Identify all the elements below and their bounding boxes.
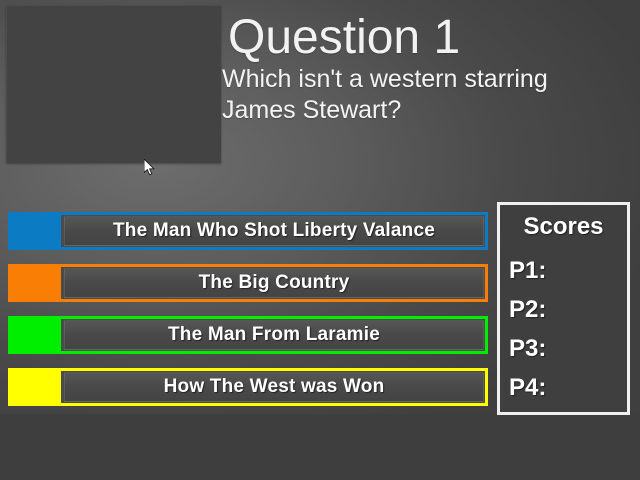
answer-option-b[interactable]: The Big Country — [8, 264, 488, 302]
score-label-p2: P2: — [509, 296, 546, 323]
score-label-p1: P1: — [509, 257, 546, 284]
answer-option-c[interactable]: The Man From Laramie — [8, 316, 488, 354]
answer-swatch-blue — [11, 215, 61, 247]
score-row-p2: P2: — [509, 296, 550, 324]
question-heading: Question 1 — [228, 12, 460, 64]
answer-list: The Man Who Shot Liberty Valance The Big… — [8, 212, 488, 420]
answer-option-d[interactable]: How The West was Won — [8, 368, 488, 406]
answer-label-b: The Big Country — [64, 268, 484, 298]
answer-swatch-green — [11, 319, 61, 351]
video-placeholder[interactable] — [6, 5, 221, 163]
answer-label-a: The Man Who Shot Liberty Valance — [64, 216, 484, 246]
score-label-p3: P3: — [509, 335, 546, 362]
score-row-p1: P1: — [509, 257, 550, 285]
scores-panel: Scores P1: P2: P3: P4: — [497, 202, 630, 415]
scores-title: Scores — [500, 213, 627, 241]
answer-label-c: The Man From Laramie — [64, 320, 484, 350]
answer-swatch-yellow — [11, 371, 61, 403]
question-text: Which isn't a western starring James Ste… — [222, 64, 622, 126]
score-row-p3: P3: — [509, 335, 550, 363]
score-row-p4: P4: — [509, 374, 550, 402]
answer-option-a[interactable]: The Man Who Shot Liberty Valance — [8, 212, 488, 250]
answer-label-d: How The West was Won — [64, 372, 484, 402]
answer-swatch-orange — [11, 267, 61, 299]
quiz-game-screen: Question 1 Which isn't a western starrin… — [0, 0, 640, 480]
score-label-p4: P4: — [509, 374, 546, 401]
bottom-background-band — [0, 414, 640, 480]
